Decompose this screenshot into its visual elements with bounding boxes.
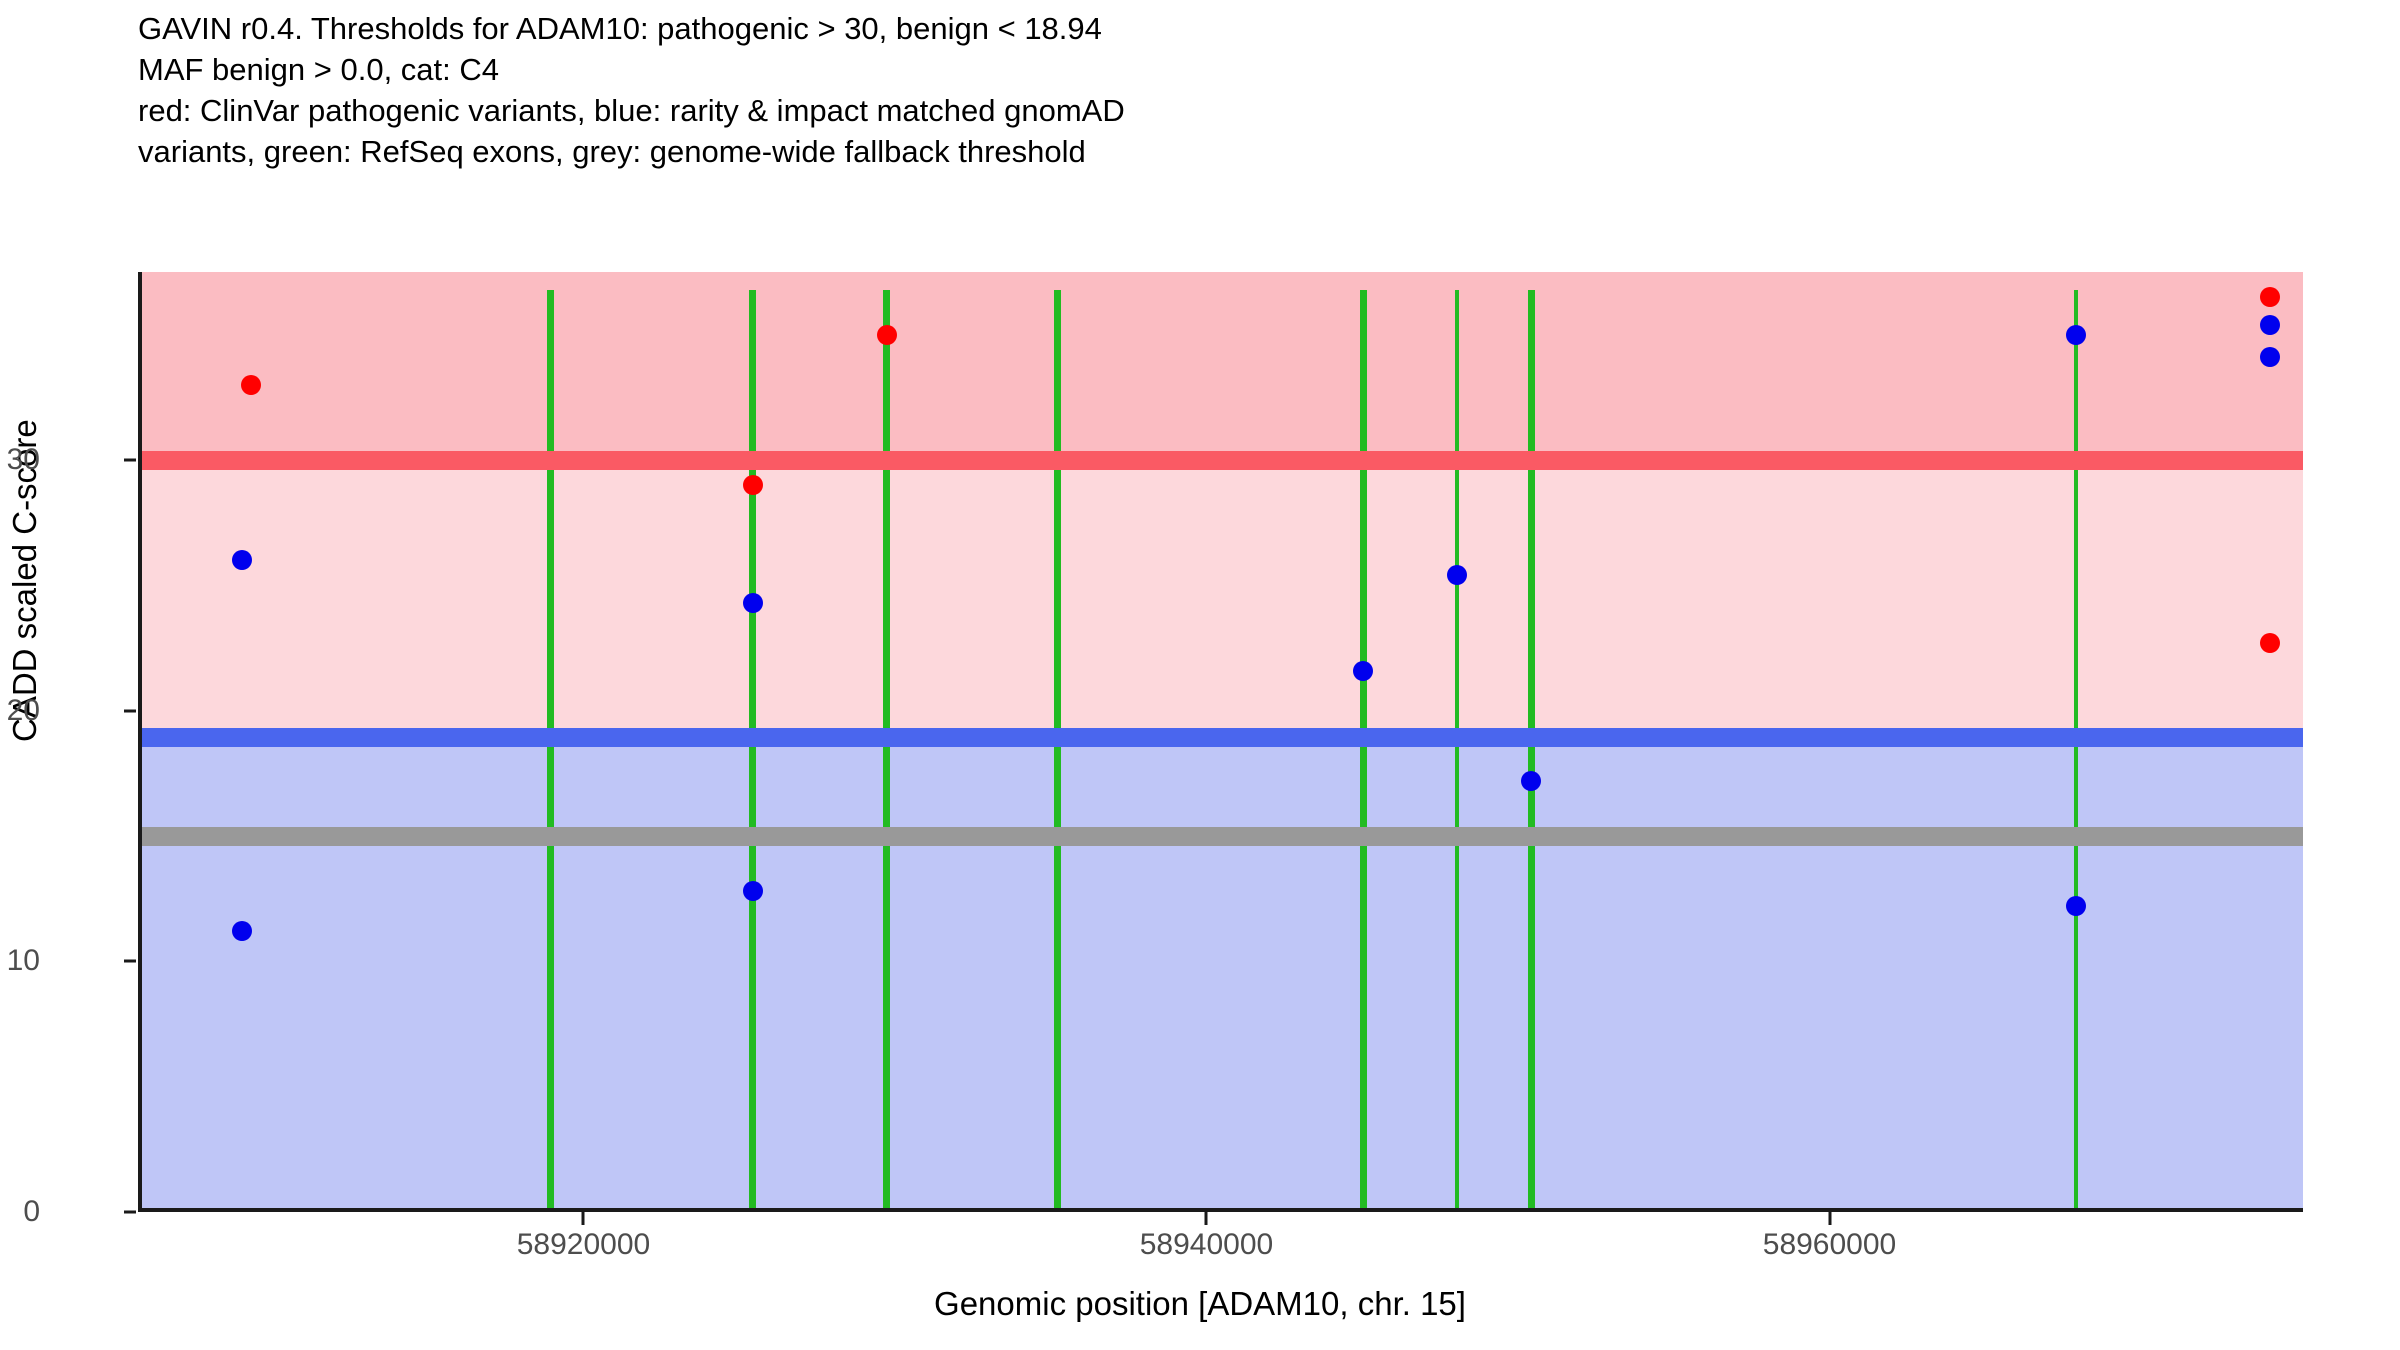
refseq-exon-line: [1054, 290, 1061, 1208]
data-point[interactable]: [877, 325, 897, 345]
y-tick-label: 0: [23, 1195, 40, 1229]
y-tick-label: 10: [7, 944, 40, 978]
data-point[interactable]: [2260, 633, 2280, 653]
x-tick-mark: [582, 1212, 585, 1225]
y-tick-mark: [124, 1211, 136, 1214]
data-point[interactable]: [2260, 287, 2280, 307]
x-tick-mark: [1828, 1212, 1831, 1225]
refseq-exon-line: [1528, 290, 1535, 1208]
data-point[interactable]: [2260, 315, 2280, 335]
chart-title-line-1: GAVIN r0.4. Thresholds for ADAM10: patho…: [138, 8, 2338, 49]
y-tick-mark: [124, 709, 136, 712]
x-axis-title: Genomic position [ADAM10, chr. 15]: [0, 1285, 2400, 1323]
chart-title-line-4: variants, green: RefSeq exons, grey: gen…: [138, 131, 2338, 172]
x-tick-label: 58920000: [517, 1228, 650, 1262]
plot-panel: [138, 272, 2303, 1212]
data-point[interactable]: [2260, 347, 2280, 367]
band-pathogenic-zone: [142, 272, 2303, 460]
band-vous-zone: [142, 460, 2303, 737]
chart-title-block: GAVIN r0.4. Thresholds for ADAM10: patho…: [138, 8, 2338, 172]
chart-title-line-2: MAF benign > 0.0, cat: C4: [138, 49, 2338, 90]
data-point[interactable]: [1353, 661, 1373, 681]
x-tick-mark: [1205, 1212, 1208, 1225]
data-point[interactable]: [743, 593, 763, 613]
data-point[interactable]: [1521, 771, 1541, 791]
refseq-exon-line: [1455, 290, 1459, 1208]
plot-area: [142, 272, 2303, 1208]
data-point[interactable]: [2066, 325, 2086, 345]
band-benign-zone: [142, 737, 2303, 1208]
y-tick-mark: [124, 459, 136, 462]
y-tick-label: 30: [7, 443, 40, 477]
data-point[interactable]: [241, 375, 261, 395]
x-tick-label: 58940000: [1140, 1228, 1273, 1262]
data-point[interactable]: [1447, 565, 1467, 585]
y-tick-label: 20: [7, 694, 40, 728]
refseq-exon-line: [883, 290, 890, 1208]
threshold-line-benign: [142, 728, 2303, 747]
threshold-line-pathogenic: [142, 451, 2303, 470]
data-point[interactable]: [743, 475, 763, 495]
refseq-exon-line: [749, 290, 756, 1208]
x-tick-label: 58960000: [1763, 1228, 1896, 1262]
data-point[interactable]: [743, 881, 763, 901]
chart-title-line-3: red: ClinVar pathogenic variants, blue: …: [138, 90, 2338, 131]
refseq-exon-line: [1360, 290, 1367, 1208]
y-tick-mark: [124, 960, 136, 963]
data-point[interactable]: [2066, 896, 2086, 916]
refseq-exon-line: [547, 290, 554, 1208]
threshold-line-genome-wide-fallback: [142, 827, 2303, 846]
refseq-exon-line: [2074, 290, 2078, 1208]
data-point[interactable]: [232, 550, 252, 570]
data-point[interactable]: [232, 921, 252, 941]
